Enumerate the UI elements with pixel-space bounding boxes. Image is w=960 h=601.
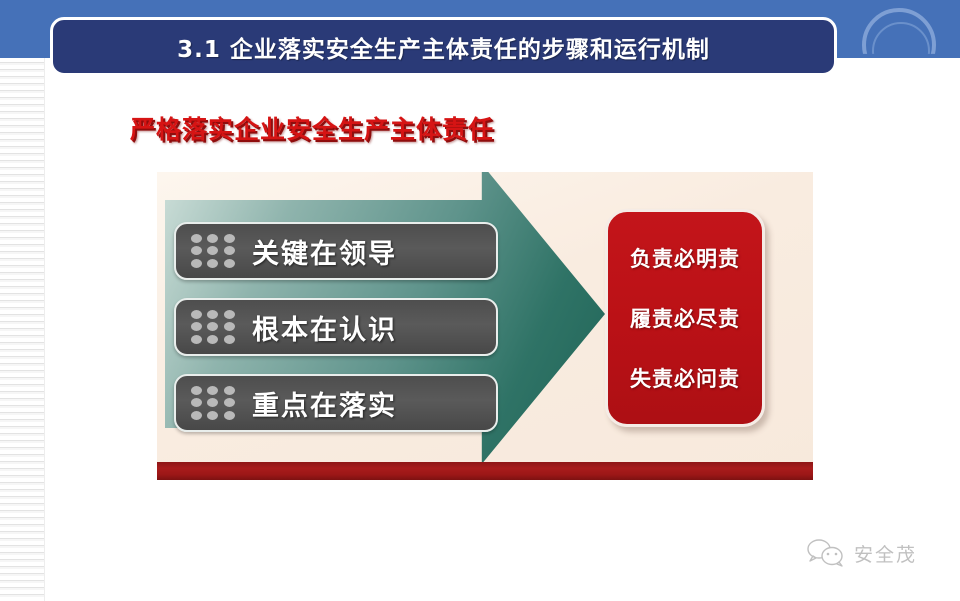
dot-grid-icon (190, 310, 236, 344)
section-heading: 严格落实企业安全生产主体责任 (130, 110, 494, 146)
step-label-1: 关键在领导 (252, 232, 397, 271)
step-label-3: 重点在落实 (252, 384, 397, 423)
crescent-arc-decoration-icon (862, 8, 936, 58)
watermark-label: 安全茂 (854, 540, 917, 567)
panel-footer-bar (157, 462, 813, 480)
step-label-2: 根本在认识 (252, 308, 397, 347)
result-line-2: 履责必尽责 (630, 303, 740, 333)
result-line-3: 失责必问责 (630, 363, 740, 393)
page-title: 3.1 企业落实安全生产主体责任的步骤和运行机制 (177, 30, 710, 64)
dot-grid-icon (190, 386, 236, 420)
step-item-3: 重点在落实 (174, 374, 498, 432)
left-stripe-decoration (0, 58, 45, 601)
wechat-icon (806, 538, 846, 568)
result-line-1: 负责必明责 (630, 243, 740, 273)
slide-title-bar: 3.1 企业落实安全生产主体责任的步骤和运行机制 (50, 17, 837, 76)
result-card: 负责必明责 履责必尽责 失责必问责 (605, 209, 765, 427)
step-item-1: 关键在领导 (174, 222, 498, 280)
step-item-2: 根本在认识 (174, 298, 498, 356)
diagram-panel: 关键在领导 根本在认识 重点在落实 负责必明责 履责必尽责 失责必问责 (157, 172, 813, 480)
dot-grid-icon (190, 234, 236, 268)
watermark: 安全茂 (806, 538, 917, 568)
